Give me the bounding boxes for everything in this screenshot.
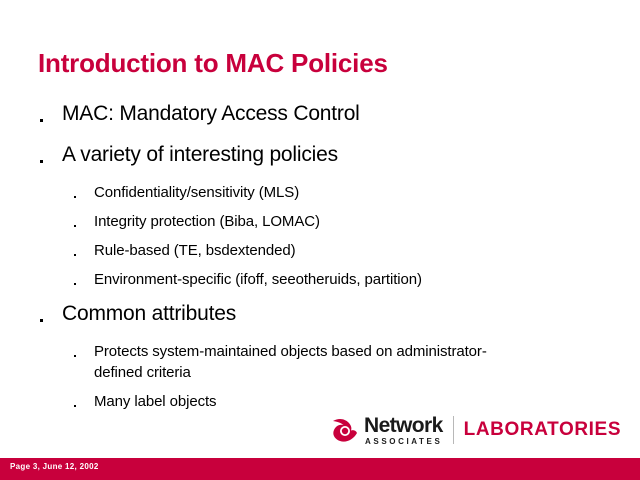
bullet-text: MAC: Mandatory Access Control <box>62 100 360 127</box>
bullet-item-level2: Confidentiality/sensitivity (MLS) <box>38 182 598 203</box>
bullet-item-level1: A variety of interesting policies <box>38 141 598 168</box>
network-associates-wordmark: Network ASSOCIATES <box>364 415 443 446</box>
sub-bullet-text: Confidentiality/sensitivity (MLS) <box>94 182 299 203</box>
bullet-item-level2: Environment-specific (ifoff, seeotheruid… <box>38 269 598 290</box>
sub-bullet-text: Environment-specific (ifoff, seeotheruid… <box>94 269 422 290</box>
sub-bullet-text: Rule-based (TE, bsdextended) <box>94 240 295 261</box>
sub-bullet-marker-icon <box>74 269 94 290</box>
sub-bullet-marker-icon <box>74 341 94 362</box>
network-associates-shield-icon <box>331 417 359 443</box>
logo-product-name: LABORATORIES <box>464 419 621 441</box>
bullet-marker-icon <box>38 141 62 168</box>
slide-canvas: Introduction to MAC Policies MAC: Mandat… <box>0 0 640 480</box>
sub-bullet-text: Integrity protection (Biba, LOMAC) <box>94 211 320 232</box>
sub-bullet-text: Protects system-maintained objects based… <box>94 341 524 383</box>
sub-bullet-marker-icon <box>74 182 94 203</box>
bullet-item-level2: Rule-based (TE, bsdextended) <box>38 240 598 261</box>
bullet-list: MAC: Mandatory Access Control A variety … <box>38 100 598 422</box>
sub-bullet-list: Protects system-maintained objects based… <box>38 341 598 412</box>
brand-logo: Network ASSOCIATES LABORATORIES <box>331 410 621 450</box>
logo-brand-subname: ASSOCIATES <box>365 438 443 446</box>
bullet-item-level1: MAC: Mandatory Access Control <box>38 100 598 127</box>
sub-bullet-marker-icon <box>74 240 94 261</box>
logo-brand-name: Network <box>364 415 443 436</box>
bullet-text: Common attributes <box>62 300 236 327</box>
sub-bullet-marker-icon <box>74 211 94 232</box>
bullet-text: A variety of interesting policies <box>62 141 338 168</box>
sub-bullet-marker-icon <box>74 391 94 412</box>
bullet-item-level1: Common attributes <box>38 300 598 327</box>
bullet-item-level2: Integrity protection (Biba, LOMAC) <box>38 211 598 232</box>
footer-page-info: Page 3, June 12, 2002 <box>10 462 99 471</box>
bullet-marker-icon <box>38 100 62 127</box>
logo-divider <box>453 416 454 444</box>
sub-bullet-list: Confidentiality/sensitivity (MLS) Integr… <box>38 182 598 290</box>
page-title: Introduction to MAC Policies <box>38 48 388 79</box>
sub-bullet-text: Many label objects <box>94 391 216 412</box>
bullet-item-level2: Protects system-maintained objects based… <box>38 341 598 383</box>
bullet-item-level2: Many label objects <box>38 391 598 412</box>
bullet-marker-icon <box>38 300 62 327</box>
